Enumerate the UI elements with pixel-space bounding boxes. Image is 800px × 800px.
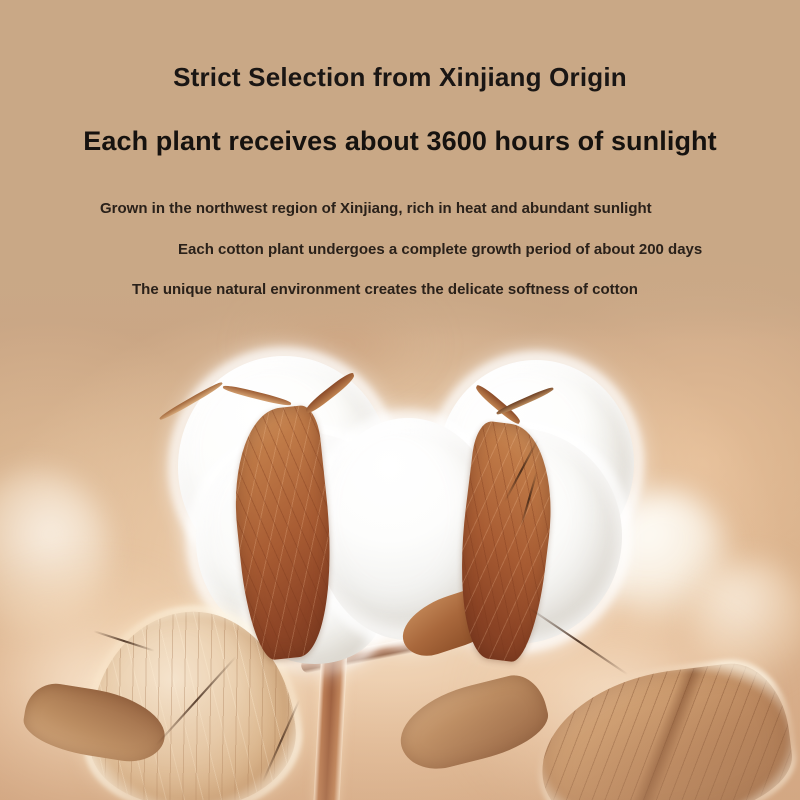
feature-line-2: Each cotton plant undergoes a complete g… — [178, 241, 702, 258]
text-overlay: Strict Selection from Xinjiang Origin Ea… — [0, 0, 800, 800]
feature-line-1: Grown in the northwest region of Xinjian… — [100, 200, 652, 217]
poster-title: Strict Selection from Xinjiang Origin — [0, 62, 800, 93]
poster-headline: Each plant receives about 3600 hours of … — [0, 126, 800, 157]
feature-line-3: The unique natural environment creates t… — [132, 281, 638, 298]
cotton-promo-poster: Strict Selection from Xinjiang Origin Ea… — [0, 0, 800, 800]
